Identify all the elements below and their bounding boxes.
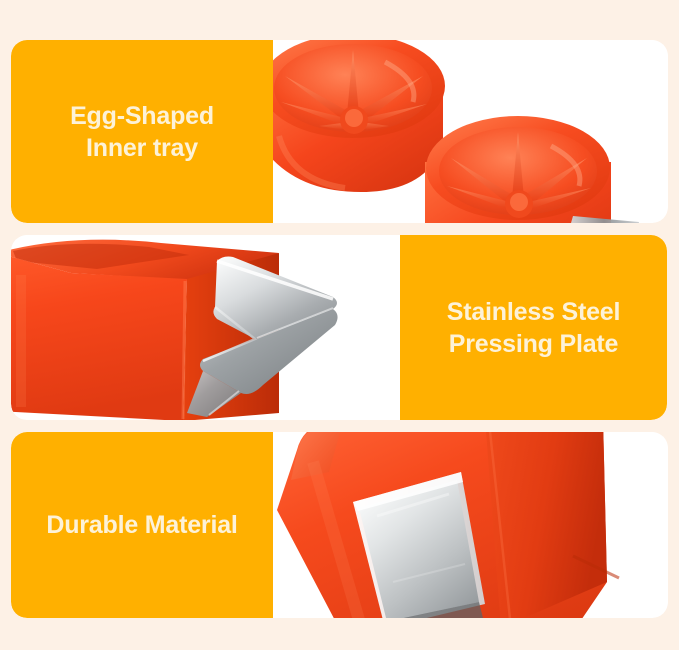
image-panel-inner-tray [273, 40, 668, 223]
image-panel-pressing-plate [11, 235, 400, 420]
feature-row-pressing-plate: Stainless Steel Pressing Plate [11, 235, 667, 420]
caption-panel-pressing-plate: Stainless Steel Pressing Plate [400, 235, 667, 420]
tray-upper [273, 40, 445, 192]
stainless-steel-pressing-plate-photo [11, 235, 400, 420]
image-panel-durable-material [273, 432, 668, 618]
caption-text-durable-material: Durable Material [46, 509, 237, 541]
egg-shaped-inner-tray-photo [273, 40, 668, 223]
caption-panel-durable-material: Durable Material [11, 432, 273, 618]
feature-row-durable-material: Durable Material [11, 432, 668, 618]
feature-row-inner-tray: Egg-Shaped Inner tray [11, 40, 668, 223]
caption-panel-inner-tray: Egg-Shaped Inner tray [11, 40, 273, 223]
durable-material-body-photo [273, 432, 668, 618]
product-feature-infographic: Egg-Shaped Inner tray [0, 0, 679, 650]
caption-text-pressing-plate: Stainless Steel Pressing Plate [447, 296, 620, 360]
caption-text-inner-tray: Egg-Shaped Inner tray [70, 100, 214, 164]
